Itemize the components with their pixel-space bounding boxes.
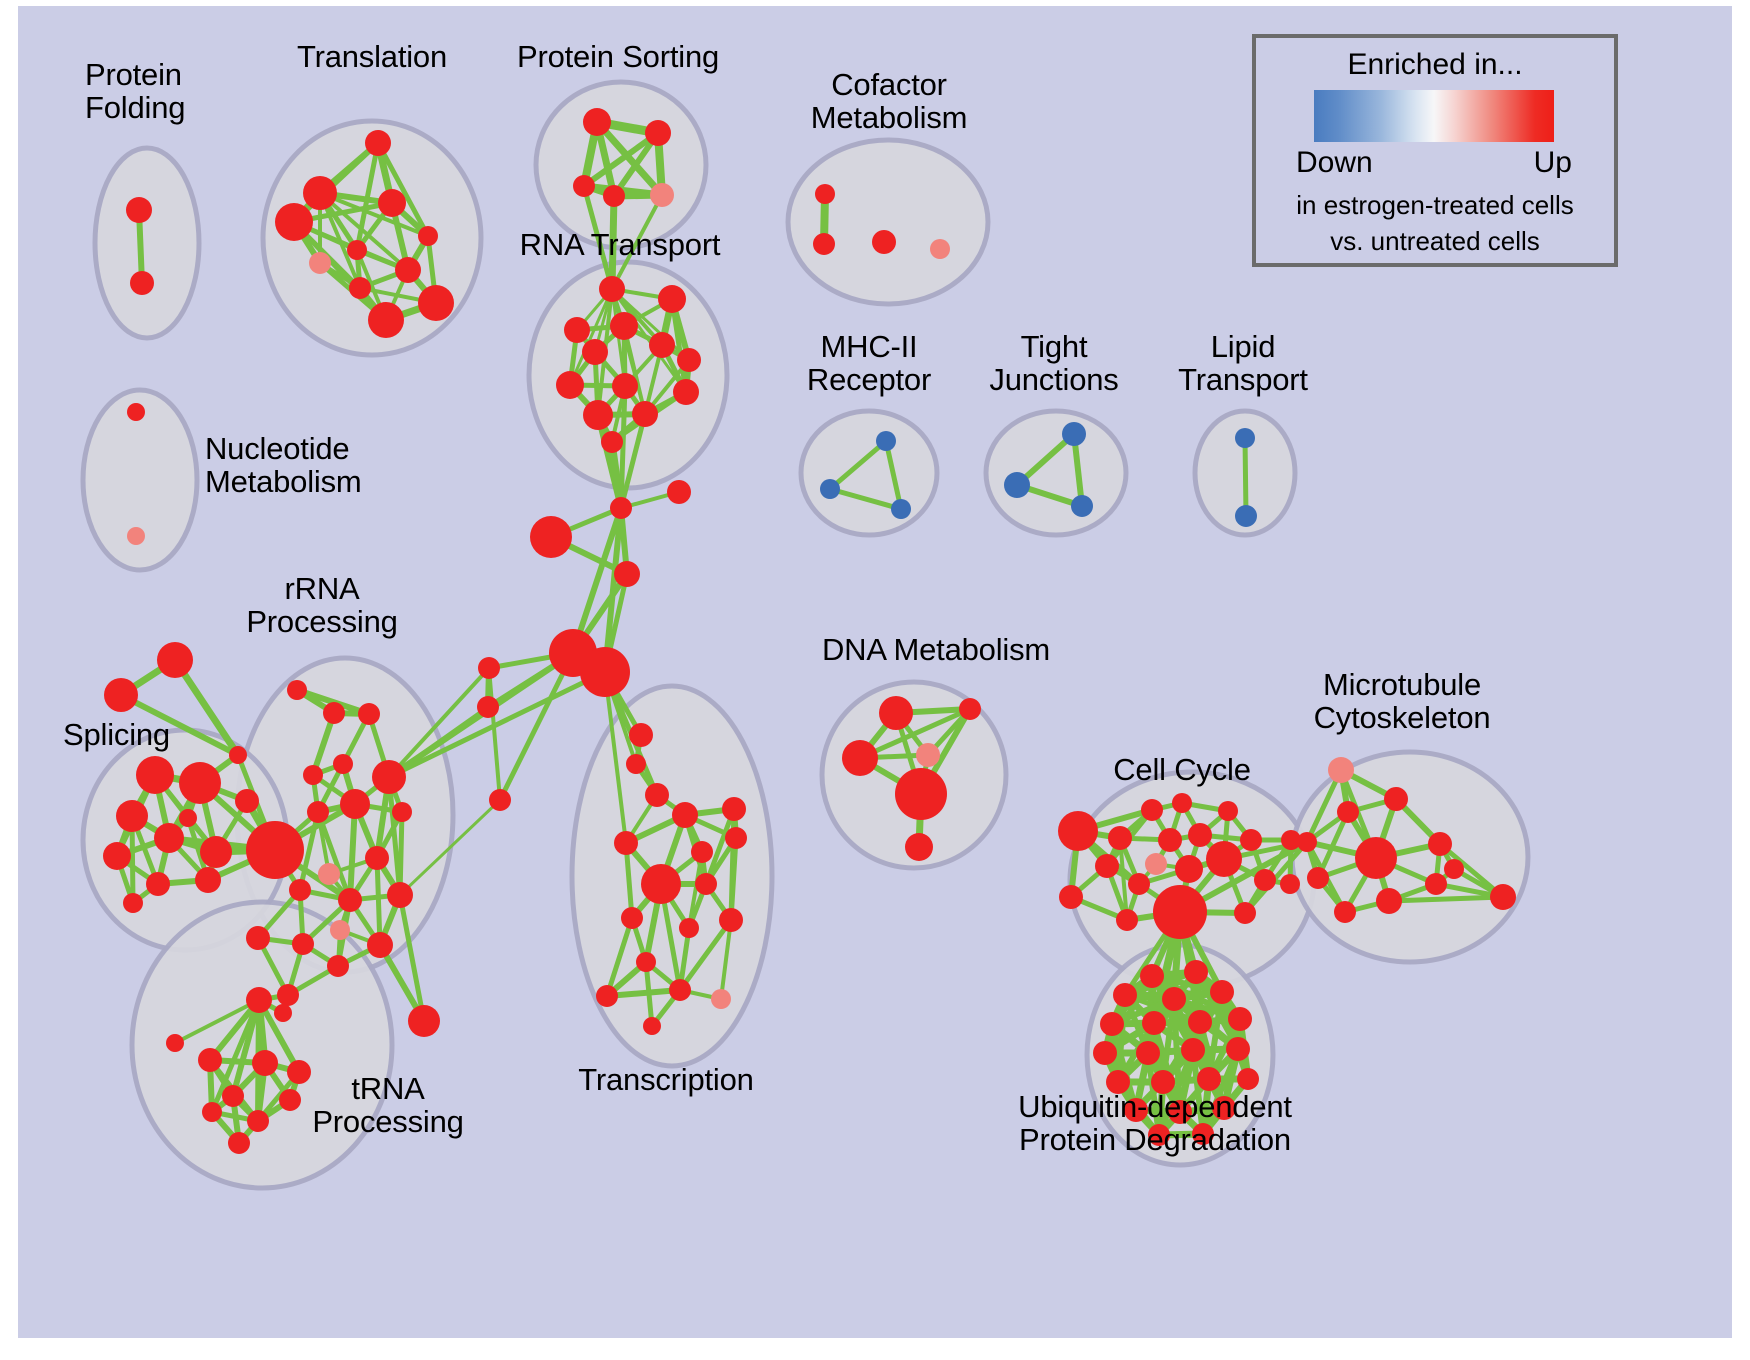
gene-set-node[interactable] [621, 907, 643, 929]
enrichment-map-figure: Protein FoldingTranslationProtein Sortin… [0, 0, 1750, 1360]
gene-set-node[interactable] [330, 920, 350, 940]
gene-set-node[interactable] [1228, 1007, 1252, 1031]
gene-set-node[interactable] [1235, 428, 1255, 448]
gene-set-node[interactable] [815, 184, 835, 204]
gene-set-node[interactable] [876, 431, 896, 451]
gene-set-node[interactable] [157, 642, 193, 678]
gene-set-node[interactable] [930, 239, 950, 259]
gene-set-node[interactable] [1235, 505, 1257, 527]
gene-set-node[interactable] [1142, 1011, 1166, 1035]
legend-panel: Enriched in... Down Up in estrogen-treat… [1252, 34, 1618, 267]
edge [377, 858, 380, 945]
gene-set-node[interactable] [1058, 811, 1098, 851]
gene-set-node[interactable] [222, 1085, 244, 1107]
gene-set-node[interactable] [1234, 902, 1256, 924]
gene-set-node[interactable] [905, 833, 933, 861]
gene-set-node[interactable] [891, 499, 911, 519]
gene-set-node[interactable] [1425, 873, 1447, 895]
gene-set-node[interactable] [1307, 867, 1329, 889]
gene-set-node[interactable] [612, 373, 638, 399]
gene-set-node[interactable] [669, 979, 691, 1001]
gene-set-node[interactable] [649, 332, 675, 358]
gene-set-node[interactable] [672, 802, 698, 828]
gene-set-node[interactable] [1254, 869, 1276, 891]
cluster-label-mhc2: MHC-II Receptor [807, 330, 931, 397]
gene-set-node[interactable] [372, 760, 406, 794]
gene-set-node[interactable] [1128, 873, 1150, 895]
cluster-label-cofactor: Cofactor Metabolism [811, 68, 968, 135]
gene-set-node[interactable] [636, 952, 656, 972]
gene-set-node[interactable] [879, 696, 913, 730]
gene-set-node[interactable] [1297, 832, 1317, 852]
gene-set-node[interactable] [1237, 1068, 1259, 1090]
gene-set-node[interactable] [1175, 855, 1203, 883]
gene-set-node[interactable] [395, 257, 421, 283]
gene-set-node[interactable] [340, 789, 370, 819]
gene-set-node[interactable] [641, 864, 681, 904]
gene-set-node[interactable] [228, 1132, 250, 1154]
gene-set-node[interactable] [610, 497, 632, 519]
gene-set-node[interactable] [1062, 422, 1086, 446]
gene-set-node[interactable] [1490, 884, 1516, 910]
gene-set-node[interactable] [614, 561, 640, 587]
gene-set-node[interactable] [650, 183, 674, 207]
gene-set-node[interactable] [229, 746, 247, 764]
gene-set-node[interactable] [130, 271, 154, 295]
gene-set-node[interactable] [418, 226, 438, 246]
edge [489, 668, 500, 800]
gene-set-node[interactable] [916, 743, 940, 767]
gene-set-node[interactable] [1004, 472, 1030, 498]
gene-set-node[interactable] [1162, 987, 1186, 1011]
gene-set-node[interactable] [711, 989, 731, 1009]
gene-set-node[interactable] [246, 987, 272, 1013]
gene-set-node[interactable] [1376, 888, 1402, 914]
gene-set-node[interactable] [392, 802, 412, 822]
cluster-label-microtubule: Microtubule Cytoskeleton [1314, 668, 1491, 735]
cluster-label-trna: tRNA Processing [312, 1072, 463, 1139]
gene-set-node[interactable] [1226, 1037, 1250, 1061]
gene-set-node[interactable] [820, 479, 840, 499]
gene-set-node[interactable] [1059, 885, 1083, 909]
cluster-label-dna-metabolism: DNA Metabolism [822, 633, 1050, 666]
cluster-hull-tight-junctions [986, 411, 1126, 535]
gene-set-node[interactable] [146, 872, 170, 896]
gene-set-node[interactable] [722, 797, 746, 821]
gene-set-node[interactable] [842, 740, 878, 776]
cluster-hull-protein-sorting [536, 82, 706, 248]
gene-set-node[interactable] [327, 955, 349, 977]
gene-set-node[interactable] [719, 908, 743, 932]
gene-set-node[interactable] [583, 108, 611, 136]
gene-set-node[interactable] [573, 175, 595, 197]
gene-set-node[interactable] [959, 698, 981, 720]
cluster-hull-mhc2 [801, 411, 937, 535]
cluster-label-lipid-transport: Lipid Transport [1178, 330, 1308, 397]
gene-set-node[interactable] [1197, 1067, 1221, 1091]
gene-set-node[interactable] [895, 768, 947, 820]
gene-set-node[interactable] [289, 879, 311, 901]
cluster-label-nucleotide: Nucleotide Metabolism [205, 432, 362, 499]
gene-set-node[interactable] [287, 1060, 311, 1084]
gene-set-node[interactable] [338, 888, 362, 912]
gene-set-node[interactable] [1218, 801, 1238, 821]
gene-set-node[interactable] [246, 926, 270, 950]
gene-set-node[interactable] [691, 841, 713, 863]
gene-set-node[interactable] [127, 527, 145, 545]
gene-set-node[interactable] [195, 867, 221, 893]
gene-set-node[interactable] [166, 1034, 184, 1052]
cluster-hull-cofactor [788, 140, 988, 304]
gene-set-node[interactable] [279, 1089, 301, 1111]
gene-set-node[interactable] [179, 809, 197, 827]
cluster-label-transcription: Transcription [578, 1063, 753, 1096]
cluster-label-protein-sorting: Protein Sorting [517, 40, 719, 73]
gene-set-node[interactable] [695, 873, 717, 895]
gene-set-node[interactable] [1337, 801, 1359, 823]
gene-set-node[interactable] [556, 371, 584, 399]
legend-color-gradient [1314, 90, 1554, 142]
gene-set-node[interactable] [365, 846, 389, 870]
gene-set-node[interactable] [1384, 787, 1408, 811]
gene-set-node[interactable] [1188, 823, 1212, 847]
gene-set-node[interactable] [127, 403, 145, 421]
gene-set-node[interactable] [368, 302, 404, 338]
gene-set-node[interactable] [287, 680, 307, 700]
gene-set-node[interactable] [583, 400, 613, 430]
gene-set-node[interactable] [1355, 837, 1397, 879]
legend-title: Enriched in... [1256, 48, 1614, 82]
gene-set-node[interactable] [478, 657, 500, 679]
cluster-label-rrna: rRNA Processing [246, 572, 397, 639]
legend-down-label: Down [1296, 146, 1373, 180]
gene-set-node[interactable] [309, 252, 331, 274]
gene-set-node[interactable] [872, 230, 896, 254]
gene-set-node[interactable] [303, 765, 323, 785]
gene-set-node[interactable] [116, 800, 148, 832]
gene-set-node[interactable] [103, 842, 131, 870]
gene-set-node[interactable] [126, 197, 152, 223]
cluster-label-rna-transport: RNA Transport [520, 228, 721, 261]
gene-set-node[interactable] [1140, 964, 1164, 988]
gene-set-node[interactable] [1206, 841, 1242, 877]
gene-set-node[interactable] [333, 754, 353, 774]
gene-set-node[interactable] [275, 203, 313, 241]
gene-set-node[interactable] [246, 821, 304, 879]
gene-set-node[interactable] [658, 285, 686, 313]
legend-up-label: Up [1534, 146, 1572, 180]
cluster-label-splicing: Splicing [63, 718, 170, 751]
gene-set-node[interactable] [408, 1005, 440, 1037]
gene-set-node[interactable] [1444, 859, 1464, 879]
gene-set-node[interactable] [347, 240, 367, 260]
gene-set-node[interactable] [580, 647, 630, 697]
legend-subtitle-line-2: vs. untreated cells [1256, 226, 1614, 257]
gene-set-node[interactable] [154, 823, 184, 853]
gene-set-node[interactable] [1071, 495, 1093, 517]
gene-set-node[interactable] [530, 516, 572, 558]
gene-set-node[interactable] [1116, 909, 1138, 931]
gene-set-node[interactable] [673, 379, 699, 405]
gene-set-node[interactable] [601, 431, 623, 453]
gene-set-node[interactable] [632, 401, 658, 427]
gene-set-node[interactable] [378, 189, 406, 217]
gene-set-node[interactable] [489, 789, 511, 811]
gene-set-node[interactable] [365, 130, 391, 156]
gene-set-node[interactable] [1328, 757, 1354, 783]
gene-set-node[interactable] [599, 276, 625, 302]
gene-set-node[interactable] [1210, 980, 1234, 1004]
gene-set-node[interactable] [1145, 853, 1167, 875]
cluster-label-ubiquitin: Ubiquitin-dependent Protein Degradation [1018, 1090, 1292, 1157]
gene-set-node[interactable] [235, 789, 259, 813]
gene-set-node[interactable] [247, 1110, 269, 1132]
gene-set-node[interactable] [1280, 874, 1300, 894]
cluster-label-protein-folding: Protein Folding [85, 58, 185, 125]
gene-set-node[interactable] [610, 312, 638, 340]
gene-set-node[interactable] [1093, 1041, 1117, 1065]
gene-set-node[interactable] [123, 893, 143, 913]
gene-set-node[interactable] [367, 932, 393, 958]
gene-set-node[interactable] [1240, 829, 1262, 851]
gene-set-node[interactable] [292, 933, 314, 955]
gene-set-node[interactable] [274, 1004, 292, 1022]
gene-set-node[interactable] [1188, 1010, 1212, 1034]
gene-set-node[interactable] [677, 348, 701, 372]
gene-set-node[interactable] [104, 678, 138, 712]
cluster-label-translation: Translation [297, 40, 447, 73]
gene-set-node[interactable] [1181, 1038, 1205, 1062]
gene-set-node[interactable] [1172, 793, 1192, 813]
gene-set-node[interactable] [1095, 854, 1119, 878]
gene-set-node[interactable] [645, 783, 669, 807]
gene-set-node[interactable] [349, 277, 371, 299]
gene-set-node[interactable] [626, 754, 646, 774]
gene-set-node[interactable] [358, 703, 380, 725]
gene-set-node[interactable] [252, 1050, 278, 1076]
gene-set-node[interactable] [307, 801, 329, 823]
gene-set-node[interactable] [679, 918, 699, 938]
gene-set-node[interactable] [813, 233, 835, 255]
gene-set-node[interactable] [387, 882, 413, 908]
gene-set-node[interactable] [1100, 1012, 1124, 1036]
edge [1245, 438, 1246, 516]
cluster-hull-protein-folding [95, 148, 199, 338]
cluster-label-tight-junctions: Tight Junctions [989, 330, 1118, 397]
gene-set-node[interactable] [1141, 799, 1163, 821]
gene-set-node[interactable] [202, 1102, 222, 1122]
gene-set-node[interactable] [596, 985, 618, 1007]
legend-subtitle-line-1: in estrogen-treated cells [1256, 190, 1614, 221]
gene-set-node[interactable] [1108, 826, 1132, 850]
gene-set-node[interactable] [1428, 832, 1452, 856]
gene-set-node[interactable] [725, 827, 747, 849]
gene-set-node[interactable] [198, 1048, 222, 1072]
gene-set-node[interactable] [1153, 885, 1207, 939]
gene-set-node[interactable] [418, 285, 454, 321]
gene-set-node[interactable] [1113, 983, 1137, 1007]
gene-set-node[interactable] [1334, 901, 1356, 923]
gene-set-node[interactable] [1136, 1041, 1160, 1065]
gene-set-node[interactable] [667, 480, 691, 504]
gene-set-node[interactable] [645, 120, 671, 146]
gene-set-node[interactable] [136, 756, 174, 794]
gene-set-node[interactable] [629, 723, 653, 747]
gene-set-node[interactable] [1158, 828, 1182, 852]
gene-set-node[interactable] [179, 762, 221, 804]
gene-set-node[interactable] [614, 831, 638, 855]
gene-set-node[interactable] [564, 317, 590, 343]
gene-set-node[interactable] [603, 185, 625, 207]
gene-set-node[interactable] [277, 984, 299, 1006]
cluster-label-cell-cycle: Cell Cycle [1113, 753, 1251, 786]
gene-set-node[interactable] [643, 1017, 661, 1035]
gene-set-node[interactable] [477, 696, 499, 718]
gene-set-node[interactable] [582, 339, 608, 365]
gene-set-node[interactable] [1184, 960, 1208, 984]
gene-set-node[interactable] [318, 863, 340, 885]
gene-set-node[interactable] [303, 176, 337, 210]
gene-set-node[interactable] [200, 836, 232, 868]
gene-set-node[interactable] [323, 702, 345, 724]
